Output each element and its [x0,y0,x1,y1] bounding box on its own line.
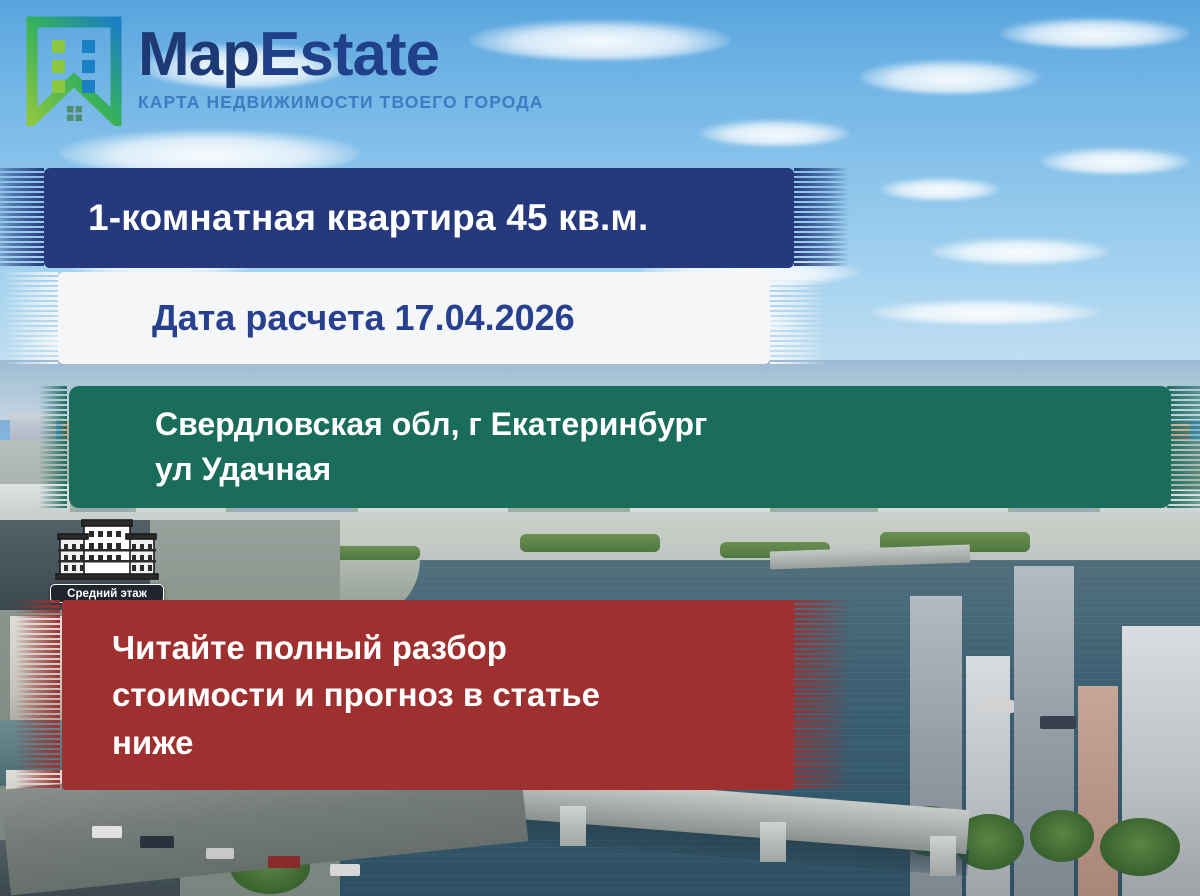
calculation-date-text: Дата расчета 17.04.2026 [152,297,575,339]
cloud [880,178,1000,200]
bookmark-building-icon [26,16,122,126]
address-content: Свердловская обл, г Екатеринбург ул Удач… [55,402,707,493]
logo-wordmark: MapEstate [138,24,544,86]
brand-logo[interactable]: MapEstate КАРТА НЕДВИЖИМОСТИ ТВОЕГО ГОРО… [26,16,544,126]
cta-line-3: ниже [112,719,600,767]
cloud [860,60,1040,94]
bridge-pier [560,806,586,846]
floor-marker[interactable]: Средний этаж [50,518,164,603]
logo-word-estate: Estate [259,20,439,89]
cloud [870,300,1100,324]
calculation-date-content: Дата расчета 17.04.2026 [44,297,575,339]
bridge-pier [930,836,956,876]
vehicle [980,700,1014,713]
cta-line-2: стоимости и прогноз в статье [112,671,600,719]
logo-tagline: КАРТА НЕДВИЖИМОСТИ ТВОЕГО ГОРОДА [138,92,544,113]
address-line-1: Свердловская обл, г Екатеринбург [155,402,707,447]
promo-card: MapEstate КАРТА НЕДВИЖИМОСТИ ТВОЕГО ГОРО… [0,0,1200,896]
property-title-text: 1-комнатная квартира 45 кв.м. [88,197,648,239]
vehicle [1040,716,1076,729]
vehicle [330,864,360,876]
calculation-date-banner: Дата расчета 17.04.2026 [44,272,784,364]
cloud [930,238,1110,264]
property-title-content: 1-комнатная квартира 45 кв.м. [30,197,648,239]
property-title-banner: 1-комнатная квартира 45 кв.м. [30,168,808,268]
logo-text-group: MapEstate КАРТА НЕДВИЖИМОСТИ ТВОЕГО ГОРО… [138,16,544,113]
apartment-building-icon [54,518,160,582]
cloud [1040,148,1190,174]
logo-word-map: Map [138,20,259,89]
cloud [700,120,850,146]
cloud [1000,18,1190,48]
vehicle [268,856,300,868]
vehicle [92,826,122,838]
bridge-pier [760,822,786,862]
vehicle [206,848,234,859]
vehicle [140,836,174,848]
cta-content: Читайте полный разбор стоимости и прогно… [48,624,600,767]
address-line-2: ул Удачная [155,447,707,492]
cta-line-1: Читайте полный разбор [112,624,600,672]
cta-banner[interactable]: Читайте полный разбор стоимости и прогно… [48,600,808,790]
address-banner: Свердловская обл, г Екатеринбург ул Удач… [55,386,1185,508]
